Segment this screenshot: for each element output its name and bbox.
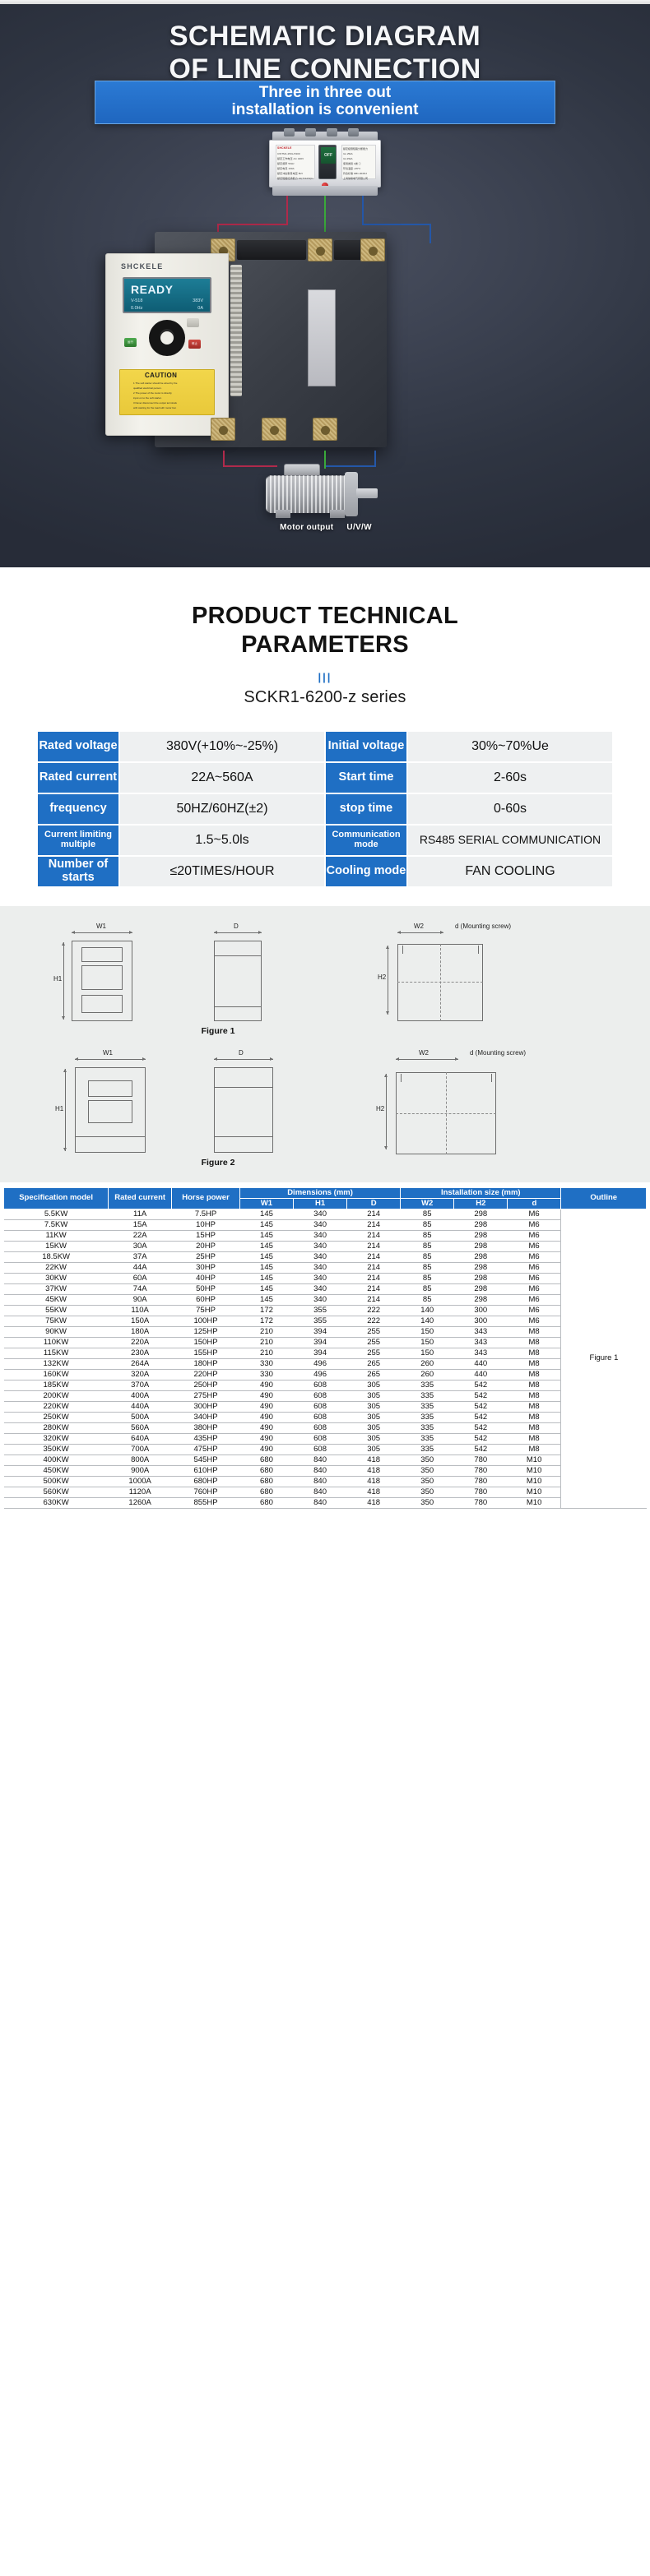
cell-h1: 340 xyxy=(294,1283,347,1294)
wire-l3-drop xyxy=(429,224,431,243)
unit-side-outline xyxy=(214,941,262,1021)
w2-dimension-arrow xyxy=(396,1059,458,1060)
h2-dimension-arrow xyxy=(388,946,388,1015)
cell-horse-power: 680HP xyxy=(172,1476,240,1487)
cell-w1: 680 xyxy=(239,1465,293,1476)
table-row: 560KW1120A760HP680840418350780M10 xyxy=(4,1487,647,1497)
output-terminal-w xyxy=(313,418,337,441)
cell-w1: 330 xyxy=(239,1358,293,1369)
breaker-lug xyxy=(348,128,359,136)
cell-w1: 145 xyxy=(239,1209,293,1219)
hero-banner: Three in three out installation is conve… xyxy=(95,81,555,124)
header-w1: W1 xyxy=(239,1198,293,1209)
parameters-title-line2: PARAMETERS xyxy=(0,631,650,659)
cell-w2: 335 xyxy=(401,1412,454,1422)
cell-h1: 840 xyxy=(294,1476,347,1487)
hero-banner-line1: Three in three out xyxy=(95,85,555,102)
breaker-right-line: Icu 25kA xyxy=(343,152,353,155)
cell-w1: 145 xyxy=(239,1251,293,1262)
cell-h1: 608 xyxy=(294,1390,347,1401)
keypad-outline xyxy=(88,1100,132,1123)
breaker-brand: SHCKELE xyxy=(277,146,292,150)
cell-model: 90KW xyxy=(4,1326,109,1337)
cell-screw: M10 xyxy=(508,1465,561,1476)
cell-horse-power: 340HP xyxy=(172,1412,240,1422)
figure1-front-view: W1 H1 xyxy=(53,927,160,1026)
cell-w2: 140 xyxy=(401,1316,454,1326)
cell-h1: 340 xyxy=(294,1230,347,1241)
breaker-right-line: 符合标准 GB1-4048.2 xyxy=(343,172,367,175)
cell-d: 305 xyxy=(347,1390,401,1401)
cell-w2: 85 xyxy=(401,1251,454,1262)
cell-w2: 85 xyxy=(401,1241,454,1251)
table-row: 22KW44A30HP14534021485298M6 xyxy=(4,1262,647,1273)
cell-h2: 343 xyxy=(454,1326,508,1337)
table-row: 115KW230A155HP210394255150343M8 xyxy=(4,1348,647,1358)
cell-d: 222 xyxy=(347,1305,401,1316)
cell-d: 214 xyxy=(347,1294,401,1305)
cell-horse-power: 20HP xyxy=(172,1241,240,1251)
cell-model: 320KW xyxy=(4,1433,109,1444)
cell-h2: 542 xyxy=(454,1433,508,1444)
page-title: SCHEMATIC DIAGRAM OF LINE CONNECTION xyxy=(0,20,650,86)
center-line-horizontal xyxy=(397,982,483,983)
cell-w2: 335 xyxy=(401,1401,454,1412)
cell-w1: 145 xyxy=(239,1283,293,1294)
display-outline xyxy=(88,1080,132,1097)
cell-screw: M6 xyxy=(508,1305,561,1316)
starter-keypad: 运行 停止 xyxy=(123,318,211,361)
cell-h2: 298 xyxy=(454,1294,508,1305)
starter-display-row1-left: V-518 xyxy=(131,298,142,303)
cell-w2: 85 xyxy=(401,1283,454,1294)
cell-h1: 340 xyxy=(294,1262,347,1273)
caution-line: input on to the soft starter. xyxy=(133,396,162,400)
cell-w2: 85 xyxy=(401,1230,454,1241)
cell-w2: 150 xyxy=(401,1348,454,1358)
breaker-switch-label: OFF xyxy=(321,147,336,164)
wire-l1-vertical xyxy=(286,196,288,225)
cell-d: 265 xyxy=(347,1358,401,1369)
table-row: 75KW150A100HP172355222140300M6 xyxy=(4,1316,647,1326)
h2-label: H2 xyxy=(378,974,386,981)
cell-rated-current: 900A xyxy=(109,1465,172,1476)
wire-w-out xyxy=(374,451,376,467)
d-label: D xyxy=(239,1049,244,1057)
wire-u-out xyxy=(223,451,225,467)
cell-screw: M10 xyxy=(508,1487,561,1497)
cell-model: 30KW xyxy=(4,1273,109,1283)
cell-screw: M10 xyxy=(508,1497,561,1508)
cell-h1: 340 xyxy=(294,1273,347,1283)
w2-dimension-arrow xyxy=(397,932,443,933)
cell-d: 305 xyxy=(347,1401,401,1412)
parameters-section: PRODUCT TECHNICAL PARAMETERS ||| SCKR1-6… xyxy=(0,567,650,888)
label-outline xyxy=(81,995,123,1013)
cell-horse-power: 220HP xyxy=(172,1369,240,1380)
breaker-spec-line: 额定频率 50Hz xyxy=(277,162,295,165)
cell-rated-current: 370A xyxy=(109,1380,172,1390)
w1-label: W1 xyxy=(103,1049,113,1057)
cell-d: 214 xyxy=(347,1219,401,1230)
cell-h2: 780 xyxy=(454,1476,508,1487)
cell-w2: 335 xyxy=(401,1444,454,1454)
cell-w1: 490 xyxy=(239,1390,293,1401)
cell-screw: M6 xyxy=(508,1283,561,1294)
breaker-right-line: 上海信联电气有限公司 xyxy=(343,177,368,180)
cell-model: 11KW xyxy=(4,1230,109,1241)
header-horse-power: Horse power xyxy=(172,1187,240,1209)
param-value: 380V(+10%~-25%) xyxy=(119,731,325,762)
cell-d: 418 xyxy=(347,1476,401,1487)
cell-w2: 85 xyxy=(401,1219,454,1230)
cell-rated-current: 11A xyxy=(109,1209,172,1219)
cell-model: 400KW xyxy=(4,1454,109,1465)
cell-screw: M8 xyxy=(508,1369,561,1380)
cell-h2: 300 xyxy=(454,1316,508,1326)
specification-table-section: Specification model Rated current Horse … xyxy=(0,1182,650,1517)
cell-w2: 335 xyxy=(401,1380,454,1390)
cell-horse-power: 760HP xyxy=(172,1487,240,1497)
cell-d: 214 xyxy=(347,1262,401,1273)
cell-h1: 608 xyxy=(294,1422,347,1433)
cell-rated-current: 150A xyxy=(109,1316,172,1326)
cell-w2: 350 xyxy=(401,1465,454,1476)
input-terminal-l3 xyxy=(360,238,385,261)
figure2-caption: Figure 2 xyxy=(152,1158,284,1168)
cell-model: 132KW xyxy=(4,1358,109,1369)
cell-screw: M10 xyxy=(508,1454,561,1465)
table-row: 350KW700A475HP490608305335542M8 xyxy=(4,1444,647,1454)
cell-rated-current: 74A xyxy=(109,1283,172,1294)
cell-w1: 210 xyxy=(239,1326,293,1337)
screw-mark xyxy=(491,1074,492,1082)
divider-icon: ||| xyxy=(0,671,650,683)
cell-w1: 145 xyxy=(239,1262,293,1273)
cell-d: 214 xyxy=(347,1251,401,1262)
param-value: RS485 SERIAL COMMUNICATION xyxy=(407,825,613,856)
hero-section: SCHEMATIC DIAGRAM OF LINE CONNECTION Thr… xyxy=(0,0,650,567)
cell-h1: 394 xyxy=(294,1326,347,1337)
header-specification-model: Specification model xyxy=(4,1187,109,1209)
cell-screw: M6 xyxy=(508,1294,561,1305)
mounting-screw-label: d (Mounting screw) xyxy=(470,1049,526,1057)
cell-model: 18.5KW xyxy=(4,1251,109,1262)
cell-horse-power: 50HP xyxy=(172,1283,240,1294)
caution-line: 1 The soft starter should be wired by th… xyxy=(133,382,177,385)
cell-h1: 608 xyxy=(294,1380,347,1390)
header-rated-current: Rated current xyxy=(109,1187,172,1209)
side-detail-line xyxy=(214,1087,273,1088)
cell-h2: 343 xyxy=(454,1348,508,1358)
center-line-vertical xyxy=(440,944,441,1021)
wire-l1-horizontal xyxy=(217,224,288,225)
screw-mark xyxy=(478,946,479,954)
cell-horse-power: 75HP xyxy=(172,1305,240,1316)
table-row: Rated current 22A~560A Start time 2-60s xyxy=(37,762,613,793)
cell-rated-current: 110A xyxy=(109,1305,172,1316)
cell-h1: 340 xyxy=(294,1241,347,1251)
table-row: 90KW180A125HP210394255150343M8 xyxy=(4,1326,647,1337)
soft-starter-image: SHCKELE READY V-518 383V 0.0Hz 0A 运行 停止 … xyxy=(105,232,387,451)
param-value: 1.5~5.0ls xyxy=(119,825,325,856)
front-detail-line xyxy=(75,1136,146,1137)
dimension-drawings-section: W1 H1 D W2 d (Mounting screw) H2 xyxy=(0,906,650,1182)
cell-model: 75KW xyxy=(4,1316,109,1326)
breaker-spec-line: 额定冲击耐受电压 8kV xyxy=(277,172,303,175)
cell-h1: 340 xyxy=(294,1219,347,1230)
breaker-right-line: 使用类别 A类 ⓘ xyxy=(343,162,361,165)
cell-d: 255 xyxy=(347,1348,401,1358)
cell-model: 560KW xyxy=(4,1487,109,1497)
cell-w2: 350 xyxy=(401,1497,454,1508)
cell-horse-power: 380HP xyxy=(172,1422,240,1433)
cell-horse-power: 855HP xyxy=(172,1497,240,1508)
cell-d: 305 xyxy=(347,1380,401,1390)
cell-screw: M8 xyxy=(508,1358,561,1369)
table-row: 11KW22A15HP14534021485298M6 xyxy=(4,1230,647,1241)
cell-horse-power: 40HP xyxy=(172,1273,240,1283)
cell-h1: 355 xyxy=(294,1316,347,1326)
cell-h2: 298 xyxy=(454,1230,508,1241)
cell-h2: 440 xyxy=(454,1369,508,1380)
cell-h1: 608 xyxy=(294,1444,347,1454)
cell-d: 418 xyxy=(347,1497,401,1508)
cell-h2: 542 xyxy=(454,1444,508,1454)
cell-h2: 780 xyxy=(454,1487,508,1497)
cell-screw: M6 xyxy=(508,1273,561,1283)
side-detail-line xyxy=(214,1136,273,1137)
param-key: Communication mode xyxy=(325,825,407,856)
breaker-right-line: Ics 25kA xyxy=(343,157,353,160)
starter-display: READY V-518 383V 0.0Hz 0A xyxy=(123,277,211,313)
cell-rated-current: 700A xyxy=(109,1444,172,1454)
cell-w1: 490 xyxy=(239,1380,293,1390)
caution-line: 3 Never disconnect the output terminals xyxy=(133,401,177,405)
cell-horse-power: 610HP xyxy=(172,1465,240,1476)
cell-d: 305 xyxy=(347,1422,401,1433)
cell-rated-current: 230A xyxy=(109,1348,172,1358)
cell-h2: 780 xyxy=(454,1454,508,1465)
table-row: Current limiting multiple 1.5~5.0ls Comm… xyxy=(37,825,613,856)
cell-horse-power: 15HP xyxy=(172,1230,240,1241)
figure2-mounting-view: W2 d (Mounting screw) H2 xyxy=(366,1054,531,1158)
h1-label: H1 xyxy=(53,975,62,983)
param-key: Rated current xyxy=(37,762,119,793)
breaker-model: CWTM1-250L/3300 xyxy=(277,152,300,155)
cell-horse-power: 150HP xyxy=(172,1337,240,1348)
wire-l3-vertical xyxy=(362,196,364,225)
table-row: 30KW60A40HP14534021485298M6 xyxy=(4,1273,647,1283)
unit-side-outline xyxy=(214,1067,273,1153)
caution-label: CAUTION 1 The soft starter should be wir… xyxy=(119,369,215,415)
d-dimension-arrow xyxy=(214,932,262,933)
cell-w1: 145 xyxy=(239,1294,293,1305)
cell-w1: 680 xyxy=(239,1454,293,1465)
cell-w1: 490 xyxy=(239,1433,293,1444)
motor-foot xyxy=(276,510,290,518)
h1-dimension-arrow xyxy=(65,1069,66,1151)
table-row: 5.5KW11A7.5HP14534021485298M6Figure 1 xyxy=(4,1209,647,1219)
param-value: 22A~560A xyxy=(119,762,325,793)
cell-w2: 350 xyxy=(401,1454,454,1465)
cell-d: 305 xyxy=(347,1433,401,1444)
cell-rated-current: 264A xyxy=(109,1358,172,1369)
cell-d: 418 xyxy=(347,1465,401,1476)
figure1-mounting-view: W2 d (Mounting screw) H2 xyxy=(366,927,514,1026)
cell-model: 5.5KW xyxy=(4,1209,109,1219)
cell-h1: 394 xyxy=(294,1337,347,1348)
cell-model: 200KW xyxy=(4,1390,109,1401)
h1-dimension-arrow xyxy=(63,942,64,1020)
h1-label: H1 xyxy=(55,1105,63,1112)
cell-rated-current: 320A xyxy=(109,1369,172,1380)
side-detail-line xyxy=(214,955,262,956)
cell-model: 45KW xyxy=(4,1294,109,1305)
parameters-title: PRODUCT TECHNICAL PARAMETERS xyxy=(0,602,650,659)
cell-h1: 608 xyxy=(294,1412,347,1422)
cell-horse-power: 475HP xyxy=(172,1444,240,1454)
cell-w1: 680 xyxy=(239,1497,293,1508)
starter-display-row2-left: 0.0Hz xyxy=(131,306,142,311)
starter-brand: SHCKELE xyxy=(121,262,163,271)
breaker-bottom-cover xyxy=(272,186,378,196)
figure2-side-view: D xyxy=(197,1054,304,1158)
breaker-switch: OFF xyxy=(318,145,337,179)
technical-parameters-table: Rated voltage 380V(+10%~-25%) Initial vo… xyxy=(36,730,614,888)
cell-horse-power: 125HP xyxy=(172,1326,240,1337)
param-value: ≤20TIMES/HOUR xyxy=(119,856,325,887)
cell-d: 255 xyxy=(347,1326,401,1337)
specification-table: Specification model Rated current Horse … xyxy=(3,1187,647,1509)
cell-w1: 210 xyxy=(239,1337,293,1348)
table-row: 200KW400A275HP490608305335542M8 xyxy=(4,1390,647,1401)
cell-d: 214 xyxy=(347,1273,401,1283)
cell-h1: 340 xyxy=(294,1251,347,1262)
output-terminal-v xyxy=(262,418,286,441)
breaker-lug xyxy=(284,128,295,136)
figure2-front-view: W1 H1 xyxy=(53,1054,177,1158)
cell-h2: 298 xyxy=(454,1209,508,1219)
table-row: 185KW370A250HP490608305335542M8 xyxy=(4,1380,647,1390)
cell-w1: 145 xyxy=(239,1219,293,1230)
series-name: SCKR1-6200-z series xyxy=(0,688,650,707)
screw-mark xyxy=(401,1074,402,1082)
table-row: 18.5KW37A25HP14534021485298M6 xyxy=(4,1251,647,1262)
table-row: 500KW1000A680HP680840418350780M10 xyxy=(4,1476,647,1487)
table-row: 630KW1260A855HP680840418350780M10 xyxy=(4,1497,647,1508)
caution-line: 2 The power of the motor is directly xyxy=(133,391,172,395)
cell-horse-power: 545HP xyxy=(172,1454,240,1465)
cell-h1: 608 xyxy=(294,1433,347,1444)
cell-model: 160KW xyxy=(4,1369,109,1380)
cell-model: 350KW xyxy=(4,1444,109,1454)
page-title-line1: SCHEMATIC DIAGRAM xyxy=(0,20,650,53)
starter-side-label xyxy=(308,289,336,386)
starter-front-panel: SHCKELE READY V-518 383V 0.0Hz 0A 运行 停止 … xyxy=(105,253,229,436)
cell-model: 115KW xyxy=(4,1348,109,1358)
cell-h2: 298 xyxy=(454,1283,508,1294)
cell-w1: 145 xyxy=(239,1241,293,1251)
cell-outline: Figure 1 xyxy=(561,1209,647,1508)
cell-d: 214 xyxy=(347,1209,401,1219)
breaker-right-line: 额定极限短路分断能力 xyxy=(343,147,368,150)
cell-w1: 490 xyxy=(239,1422,293,1433)
header-w2: W2 xyxy=(401,1198,454,1209)
cell-h2: 440 xyxy=(454,1358,508,1369)
w1-dimension-arrow xyxy=(75,1059,146,1060)
cell-d: 418 xyxy=(347,1454,401,1465)
starter-vents xyxy=(230,265,242,396)
starter-display-row1-right: 383V xyxy=(193,298,203,303)
cell-rated-current: 560A xyxy=(109,1422,172,1433)
cell-w1: 210 xyxy=(239,1348,293,1358)
cell-screw: M6 xyxy=(508,1241,561,1251)
d-label: D xyxy=(234,923,239,930)
cell-h2: 542 xyxy=(454,1412,508,1422)
motor-cooling-fins xyxy=(266,475,351,513)
cell-h1: 840 xyxy=(294,1465,347,1476)
motor-uvw-text: U/V/W xyxy=(346,523,371,532)
table-row: 250KW500A340HP490608305335542M8 xyxy=(4,1412,647,1422)
table-row: frequency 50HZ/60HZ(±2) stop time 0-60s xyxy=(37,793,613,825)
cell-d: 214 xyxy=(347,1283,401,1294)
w1-dimension-arrow xyxy=(72,932,132,933)
cell-w2: 335 xyxy=(401,1433,454,1444)
cell-screw: M8 xyxy=(508,1348,561,1358)
cell-rated-current: 30A xyxy=(109,1241,172,1251)
motor-output-text: Motor output xyxy=(280,523,333,532)
keypad-outline xyxy=(81,965,123,990)
cell-rated-current: 90A xyxy=(109,1294,172,1305)
cell-w1: 490 xyxy=(239,1401,293,1412)
cell-w2: 85 xyxy=(401,1209,454,1219)
cell-w2: 140 xyxy=(401,1305,454,1316)
cell-model: 630KW xyxy=(4,1497,109,1508)
table-row: 280KW560A380HP490608305335542M8 xyxy=(4,1422,647,1433)
cell-horse-power: 250HP xyxy=(172,1380,240,1390)
cell-w1: 680 xyxy=(239,1476,293,1487)
cell-model: 15KW xyxy=(4,1241,109,1251)
header-h1: H1 xyxy=(294,1198,347,1209)
cell-w2: 350 xyxy=(401,1487,454,1497)
cell-rated-current: 180A xyxy=(109,1326,172,1337)
cell-rated-current: 640A xyxy=(109,1433,172,1444)
cell-rated-current: 800A xyxy=(109,1454,172,1465)
cell-screw: M8 xyxy=(508,1412,561,1422)
table-row: 7.5KW15A10HP14534021485298M6 xyxy=(4,1219,647,1230)
motor-foot xyxy=(330,510,345,518)
side-detail-line xyxy=(214,1006,262,1007)
cell-screw: M6 xyxy=(508,1219,561,1230)
cell-screw: M8 xyxy=(508,1444,561,1454)
cell-screw: M8 xyxy=(508,1390,561,1401)
cell-h2: 298 xyxy=(454,1251,508,1262)
cell-horse-power: 60HP xyxy=(172,1294,240,1305)
cell-horse-power: 100HP xyxy=(172,1316,240,1326)
cell-screw: M8 xyxy=(508,1380,561,1390)
cell-horse-power: 180HP xyxy=(172,1358,240,1369)
table-row: Number of starts ≤20TIMES/HOUR Cooling m… xyxy=(37,856,613,887)
cell-screw: M6 xyxy=(508,1262,561,1273)
cell-screw: M8 xyxy=(508,1326,561,1337)
cell-h1: 496 xyxy=(294,1369,347,1380)
circuit-breaker-image: SHCKELE CWTM1-250L/3300 额定工作电压 AC 400V 额… xyxy=(269,132,381,196)
cell-model: 37KW xyxy=(4,1283,109,1294)
wire-w-run xyxy=(326,465,376,467)
table-row: 450KW900A610HP680840418350780M10 xyxy=(4,1465,647,1476)
cell-rated-current: 60A xyxy=(109,1273,172,1283)
